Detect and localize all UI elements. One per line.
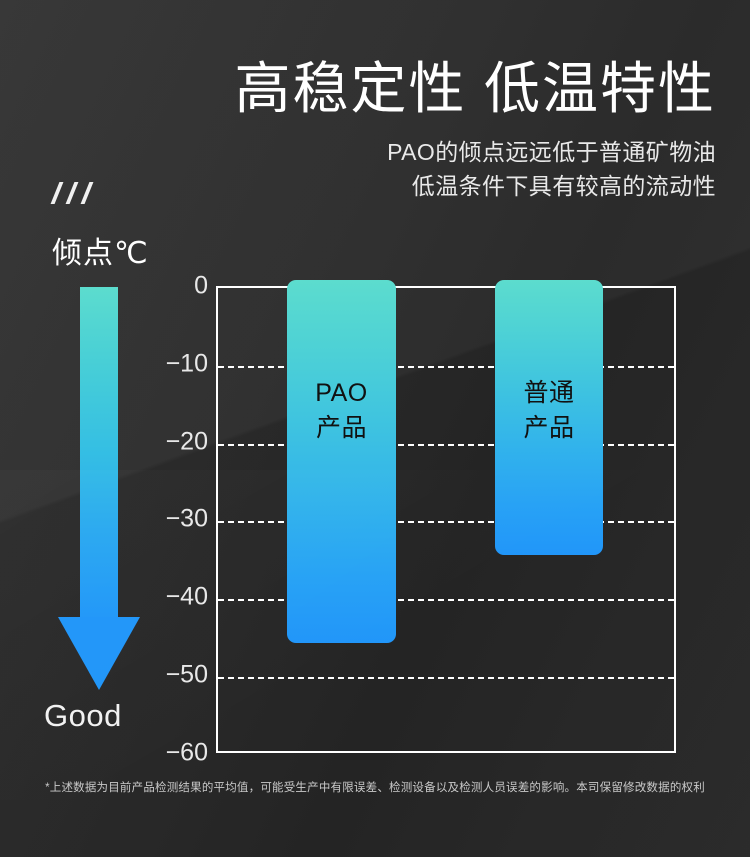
subtitle-line-1: PAO的倾点远远低于普通矿物油	[234, 135, 716, 170]
page-subtitle: PAO的倾点远远低于普通矿物油 低温条件下具有较高的流动性	[234, 135, 716, 204]
good-annotation-label: Good	[44, 698, 122, 734]
gridline--50	[218, 677, 674, 679]
header-block: 高稳定性 低温特性 PAO的倾点远远低于普通矿物油 低温条件下具有较高的流动性	[234, 58, 716, 204]
y-axis-title: 倾点℃	[52, 228, 149, 272]
y-tick-10: −10	[166, 349, 208, 378]
bar-pao-label-line-2: 产品	[287, 411, 396, 446]
y-tick-60: −60	[166, 739, 208, 768]
y-tick-0: 0	[194, 272, 208, 301]
y-axis-tick-labels: 0 −10 −20 −30 −40 −50 −60	[146, 286, 208, 753]
y-tick-50: −50	[166, 661, 208, 690]
bar-ordinary-label-line-2: 产品	[495, 411, 603, 446]
y-tick-40: −40	[166, 583, 208, 612]
downward-arrow-icon	[50, 280, 150, 695]
bar-pao-label: PAO 产品	[287, 376, 396, 445]
bar-ordinary-label-line-1: 普通	[495, 376, 603, 411]
chart-plot-area: PAO 产品 普通 产品	[216, 286, 676, 753]
bar-ordinary-label: 普通 产品	[495, 376, 603, 445]
bar-pao-label-line-1: PAO	[287, 376, 396, 411]
poster-canvas: 高稳定性 低温特性 PAO的倾点远远低于普通矿物油 低温条件下具有较高的流动性 …	[0, 0, 750, 857]
arrow-shaft	[80, 287, 118, 625]
slashes-decoration-icon	[53, 182, 105, 208]
subtitle-line-2: 低温条件下具有较高的流动性	[234, 169, 716, 204]
footnote-text: *上述数据为目前产品检测结果的平均值，可能受生产中有限误差、检测设备以及检测人员…	[0, 779, 750, 795]
page-title: 高稳定性 低温特性	[234, 58, 716, 121]
y-tick-30: −30	[166, 505, 208, 534]
y-tick-20: −20	[166, 427, 208, 456]
bar-pao: PAO 产品	[287, 280, 396, 643]
bar-ordinary: 普通 产品	[495, 280, 603, 555]
arrow-head	[58, 617, 140, 690]
